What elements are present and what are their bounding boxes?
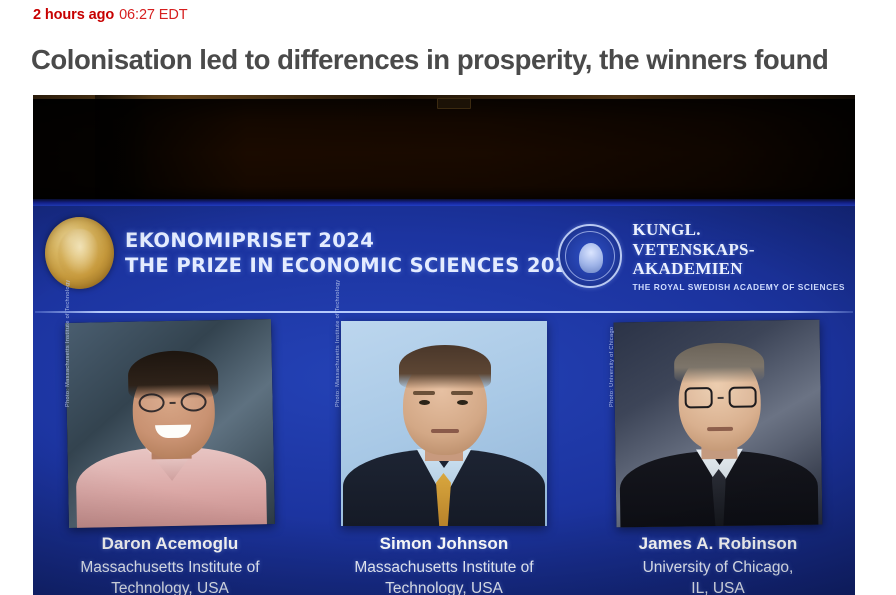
slide-banner: EKONOMIPRISET 2024 THE PRIZE IN ECONOMIC… bbox=[33, 206, 855, 310]
portrait-eye-right bbox=[457, 400, 468, 405]
portrait-brow-left bbox=[413, 391, 435, 395]
portrait-glasses-icon bbox=[684, 386, 756, 408]
banner-divider bbox=[35, 311, 853, 313]
glasses-bridge bbox=[718, 396, 724, 398]
affiliation-line-1: Massachusetts Institute of bbox=[307, 557, 581, 578]
portrait-mouth bbox=[707, 427, 733, 431]
laureate-card-acemoglu: Photo: Massachusetts Institute of Techno… bbox=[33, 321, 307, 593]
glasses-lens-right bbox=[728, 386, 756, 407]
timestamp-clock: 06:27 EDT bbox=[119, 7, 187, 23]
glasses-lens-left bbox=[138, 393, 164, 412]
room-wall-background bbox=[33, 95, 855, 201]
portrait-mouth bbox=[431, 429, 459, 433]
timestamp-relative: 2 hours ago bbox=[33, 7, 114, 23]
portrait-brow-right bbox=[451, 391, 473, 395]
portrait-eye-left bbox=[419, 400, 430, 405]
slide-top-edge bbox=[33, 199, 855, 206]
laureate-name: Daron Acemoglu bbox=[33, 533, 307, 555]
laureate-card-robinson: Photo: University of Chicago James A. Ro… bbox=[581, 321, 855, 593]
wall-fixture bbox=[437, 98, 471, 109]
article-photo[interactable]: EKONOMIPRISET 2024 THE PRIZE IN ECONOMIC… bbox=[33, 95, 855, 595]
affiliation-line-1: University of Chicago, bbox=[581, 557, 855, 578]
prize-title-block: EKONOMIPRISET 2024 THE PRIZE IN ECONOMIC… bbox=[125, 228, 583, 278]
nobel-medal-icon bbox=[45, 217, 114, 289]
portrait-photo-credit: Photo: Massachusetts Institute of Techno… bbox=[65, 295, 71, 407]
laureate-affiliation: Massachusetts Institute of Technology, U… bbox=[33, 557, 307, 595]
academy-name-line2: VETENSKAPS- bbox=[632, 240, 845, 260]
portrait-photo-credit: Photo: Massachusetts Institute of Techno… bbox=[335, 295, 341, 407]
portrait-hair bbox=[399, 345, 491, 389]
academy-name-block: KUNGL. VETENSKAPS- AKADEMIEN THE ROYAL S… bbox=[632, 220, 845, 292]
wall-shadow bbox=[95, 95, 153, 201]
news-article: 2 hours ago06:27 EDT Colonisation led to… bbox=[0, 0, 896, 595]
glasses-bridge bbox=[170, 401, 176, 403]
portrait-glasses-icon bbox=[138, 392, 206, 412]
laureate-list: Photo: Massachusetts Institute of Techno… bbox=[33, 321, 855, 593]
portrait-hair bbox=[674, 342, 765, 383]
laureate-affiliation: University of Chicago, IL, USA bbox=[581, 557, 855, 595]
article-timestamp: 2 hours ago06:27 EDT bbox=[33, 6, 188, 24]
prize-title-swedish: EKONOMIPRISET 2024 bbox=[125, 228, 583, 253]
affiliation-line-2: IL, USA bbox=[581, 578, 855, 595]
laureate-name: Simon Johnson bbox=[307, 533, 581, 555]
laureate-name: James A. Robinson bbox=[581, 533, 855, 555]
laureate-affiliation: Massachusetts Institute of Technology, U… bbox=[307, 557, 581, 595]
academy-name-line3: AKADEMIEN bbox=[632, 259, 845, 279]
laureate-portrait bbox=[65, 319, 275, 528]
page-title: Colonisation led to differences in prosp… bbox=[31, 43, 871, 77]
affiliation-line-2: Technology, USA bbox=[33, 578, 307, 595]
glasses-lens-left bbox=[684, 387, 712, 408]
laureate-portrait bbox=[341, 321, 547, 526]
laureate-portrait bbox=[614, 320, 823, 528]
affiliation-line-2: Technology, USA bbox=[307, 578, 581, 595]
academy-name-line1: KUNGL. bbox=[632, 220, 845, 240]
laureate-card-johnson: Photo: Massachusetts Institute of Techno… bbox=[307, 321, 581, 593]
affiliation-line-1: Massachusetts Institute of bbox=[33, 557, 307, 578]
glasses-lens-right bbox=[180, 392, 206, 411]
royal-academy-emblem-icon bbox=[558, 224, 622, 288]
projected-slide: EKONOMIPRISET 2024 THE PRIZE IN ECONOMIC… bbox=[33, 199, 855, 595]
academy-subtitle: THE ROYAL SWEDISH ACADEMY OF SCIENCES bbox=[632, 282, 845, 292]
portrait-photo-credit: Photo: University of Chicago bbox=[609, 295, 615, 407]
prize-title-english: THE PRIZE IN ECONOMIC SCIENCES 2024 bbox=[125, 253, 583, 278]
academy-logo: KUNGL. VETENSKAPS- AKADEMIEN THE ROYAL S… bbox=[558, 220, 845, 292]
